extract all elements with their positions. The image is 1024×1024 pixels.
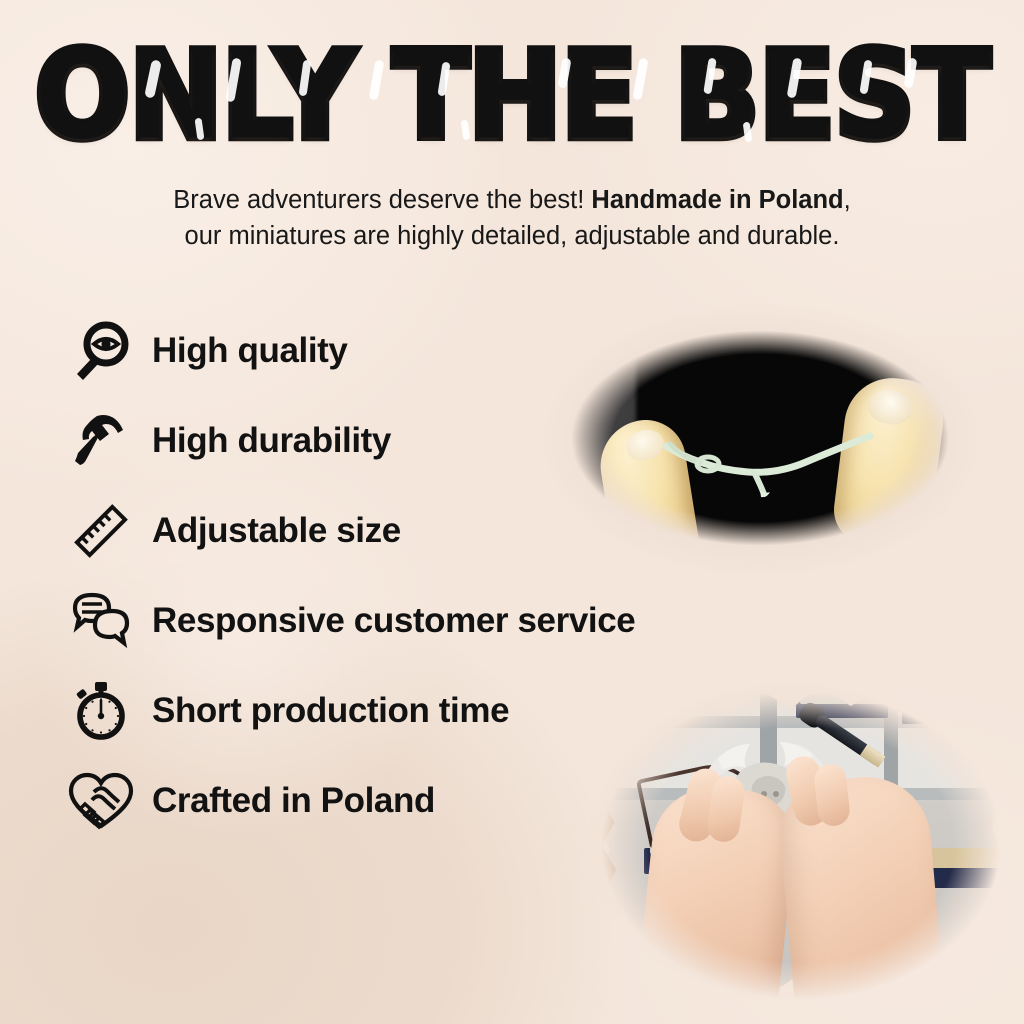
- feature-label: Short production time: [152, 691, 509, 731]
- subtitle-comma: ,: [844, 186, 851, 214]
- painting-dragon-photo: [560, 650, 1024, 1024]
- ruler-icon: [64, 494, 138, 568]
- feature-label: High quality: [152, 331, 347, 371]
- handshake-heart-icon: [64, 764, 138, 838]
- infographic-canvas: ONLY THE BEST Brave adventurers deserve …: [0, 0, 1024, 1024]
- stopwatch-icon: [64, 674, 138, 748]
- magnifier-eye-icon: [64, 314, 138, 388]
- feature-label: Adjustable size: [152, 511, 401, 551]
- subtitle-lead: Brave adventurers deserve the best!: [173, 186, 591, 214]
- feature-label: High durability: [152, 421, 391, 461]
- page-title: ONLY THE BEST: [0, 36, 1024, 157]
- tool-ferrule: [860, 744, 886, 767]
- photo-inner: [560, 650, 1024, 1024]
- subtitle: Brave adventurers deserve the best! Hand…: [90, 182, 934, 254]
- flexing-miniature-photo: [510, 282, 1010, 594]
- feature-label: Responsive customer service: [152, 601, 635, 641]
- photo-inner: [510, 282, 1010, 594]
- subtitle-line-two: our miniatures are highly detailed, adju…: [185, 222, 840, 250]
- resin-parts: [906, 700, 994, 710]
- hammer-icon: [64, 404, 138, 478]
- feature-label: Crafted in Poland: [152, 781, 435, 821]
- speech-bubbles-icon: [64, 584, 138, 658]
- subtitle-bold-claim: Handmade in Poland: [591, 186, 843, 214]
- flexed-miniature-part: [660, 432, 876, 502]
